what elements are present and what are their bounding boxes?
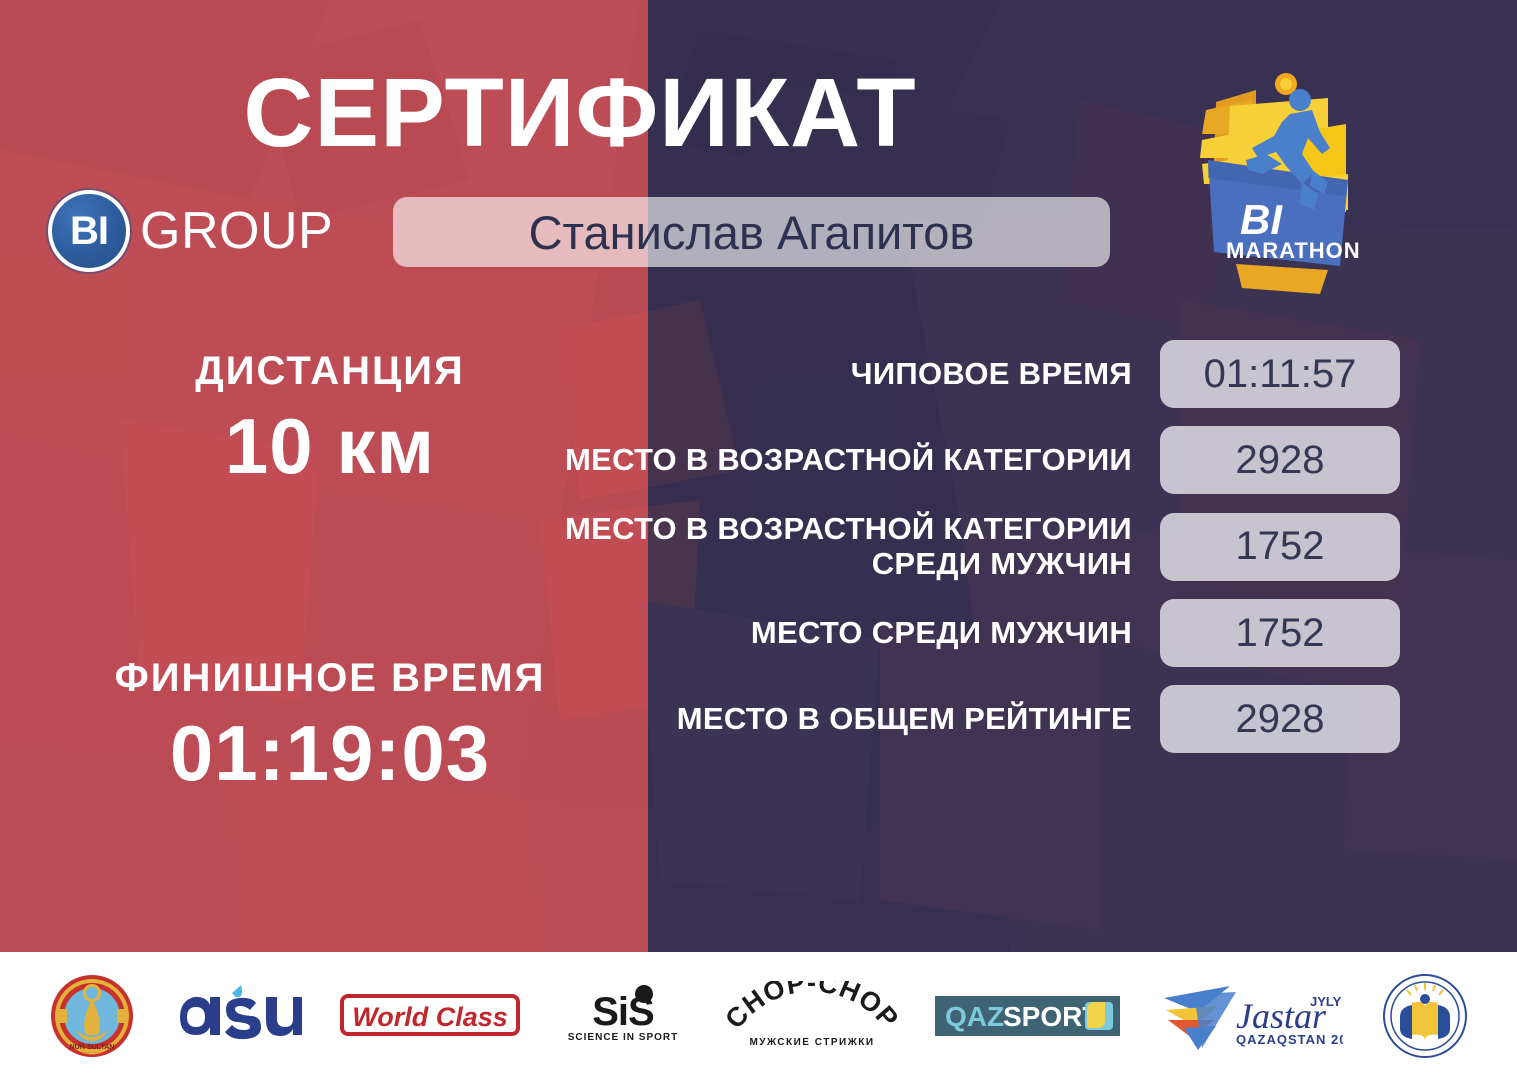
nur-sultan-emblem-icon: NUR-SULTAN <box>49 973 135 1059</box>
result-label: МЕСТО В ВОЗРАСТНОЙ КАТЕГОРИИ <box>520 443 1160 478</box>
sponsor-label-sport: SPORT <box>1003 1001 1099 1032</box>
results-list: ЧИПОВОЕ ВРЕМЯ 01:11:57 МЕСТО В ВОЗРАСТНО… <box>520 340 1400 771</box>
distance-label: ДИСТАНЦИЯ <box>60 348 600 395</box>
sponsor-sublabel: QAZAQSTAN 2019 <box>1236 1032 1343 1047</box>
participant-name: Станислав Агапитов <box>529 205 975 260</box>
result-row-age-category-men: МЕСТО В ВОЗРАСТНОЙ КАТЕГОРИИ СРЕДИ МУЖЧИ… <box>520 512 1400 581</box>
sponsor-sublabel: SCIENCE IN SPORT <box>568 1032 678 1043</box>
page-title: СЕРТИФИКАТ <box>0 62 1160 164</box>
sponsor-label: SiS <box>593 990 655 1034</box>
marathon-logo-word: MARATHON <box>1226 238 1361 263</box>
sponsor-sis: SiS SCIENCE IN SPORT <box>558 973 688 1059</box>
sponsor-sup: JYLY <box>1310 994 1342 1009</box>
qazsport-logo-icon: QAZ SPORT <box>935 992 1120 1040</box>
ministry-emblem-icon <box>1382 973 1468 1059</box>
result-row-age-category: МЕСТО В ВОЗРАСТНОЙ КАТЕГОРИИ 2928 <box>520 426 1400 494</box>
result-label: МЕСТО В ОБЩЕМ РЕЙТИНГЕ <box>520 702 1160 737</box>
result-label: ЧИПОВОЕ ВРЕМЯ <box>520 357 1160 392</box>
sponsor-chop-chop: CHOP-CHOP МУЖСКИЕ СТРИЖКИ <box>727 973 897 1059</box>
participant-name-pill: Станислав Агапитов <box>393 197 1110 267</box>
world-class-logo-icon: World Class <box>340 988 520 1044</box>
result-value: 2928 <box>1236 438 1325 483</box>
sponsor-sublabel: МУЖСКИЕ СТРИЖКИ <box>749 1037 874 1048</box>
result-value-pill: 2928 <box>1160 426 1400 494</box>
bi-group-wordmark: GROUP <box>140 201 333 261</box>
result-value-pill: 01:11:57 <box>1160 340 1400 408</box>
result-row-chip-time: ЧИПОВОЕ ВРЕМЯ 01:11:57 <box>520 340 1400 408</box>
sponsor-label: World Class <box>352 1002 508 1032</box>
marathon-logo-bi: BI <box>1240 196 1283 243</box>
result-value: 1752 <box>1236 611 1325 656</box>
sis-logo-icon: SiS SCIENCE IN SPORT <box>558 985 688 1047</box>
result-value: 1752 <box>1236 524 1325 569</box>
certificate-canvas: СЕРТИФИКАТ Станислав Агапитов BI GROUP <box>0 0 1517 1080</box>
result-value-pill: 2928 <box>1160 685 1400 753</box>
distance-block: ДИСТАНЦИЯ 10 км <box>60 348 600 492</box>
bi-marathon-logo: BI MARATHON <box>1178 62 1378 302</box>
sponsor-asu <box>174 973 302 1059</box>
result-value-pill: 1752 <box>1160 513 1400 581</box>
jastar-jyly-logo-icon: Jastar JYLY QAZAQSTAN 2019 <box>1158 976 1343 1056</box>
sponsor-label-qaz: QAZ <box>945 1001 1004 1032</box>
asu-logo-icon <box>174 985 302 1047</box>
result-label: МЕСТО СРЕДИ МУЖЧИН <box>520 616 1160 651</box>
sponsor-ministry <box>1382 973 1468 1059</box>
chop-chop-logo-icon: CHOP-CHOP МУЖСКИЕ СТРИЖКИ <box>727 981 897 1051</box>
result-row-overall: МЕСТО В ОБЩЕМ РЕЙТИНГЕ 2928 <box>520 685 1400 753</box>
result-value-pill: 1752 <box>1160 599 1400 667</box>
sponsor-world-class: World Class <box>340 973 520 1059</box>
bi-badge-icon: BI <box>48 190 130 272</box>
result-value: 01:11:57 <box>1204 352 1357 397</box>
sponsor-label: NUR-SULTAN <box>70 1044 115 1051</box>
result-value: 2928 <box>1236 697 1325 742</box>
svg-text:CHOP-CHOP: CHOP-CHOP <box>727 981 897 1034</box>
sponsor-bar: NUR-SULTAN World Class SiS SCIENCE IN SP… <box>0 952 1517 1080</box>
distance-value: 10 км <box>60 401 600 492</box>
finish-time-label: ФИНИШНОЕ ВРЕМЯ <box>60 655 600 702</box>
finish-time-block: ФИНИШНОЕ ВРЕМЯ 01:19:03 <box>60 655 600 799</box>
sponsor-nur-sultan: NUR-SULTAN <box>49 973 135 1059</box>
sponsor-jastar-jyly: Jastar JYLY QAZAQSTAN 2019 <box>1158 973 1343 1059</box>
sponsor-qazsport: QAZ SPORT <box>935 973 1120 1059</box>
result-label: МЕСТО В ВОЗРАСТНОЙ КАТЕГОРИИ СРЕДИ МУЖЧИ… <box>520 512 1160 581</box>
bi-badge-text: BI <box>70 209 108 254</box>
result-row-men: МЕСТО СРЕДИ МУЖЧИН 1752 <box>520 599 1400 667</box>
bi-group-logo: BI GROUP <box>48 190 333 272</box>
finish-time-value: 01:19:03 <box>60 708 600 799</box>
sponsor-label: CHOP-CHOP <box>727 981 897 1034</box>
